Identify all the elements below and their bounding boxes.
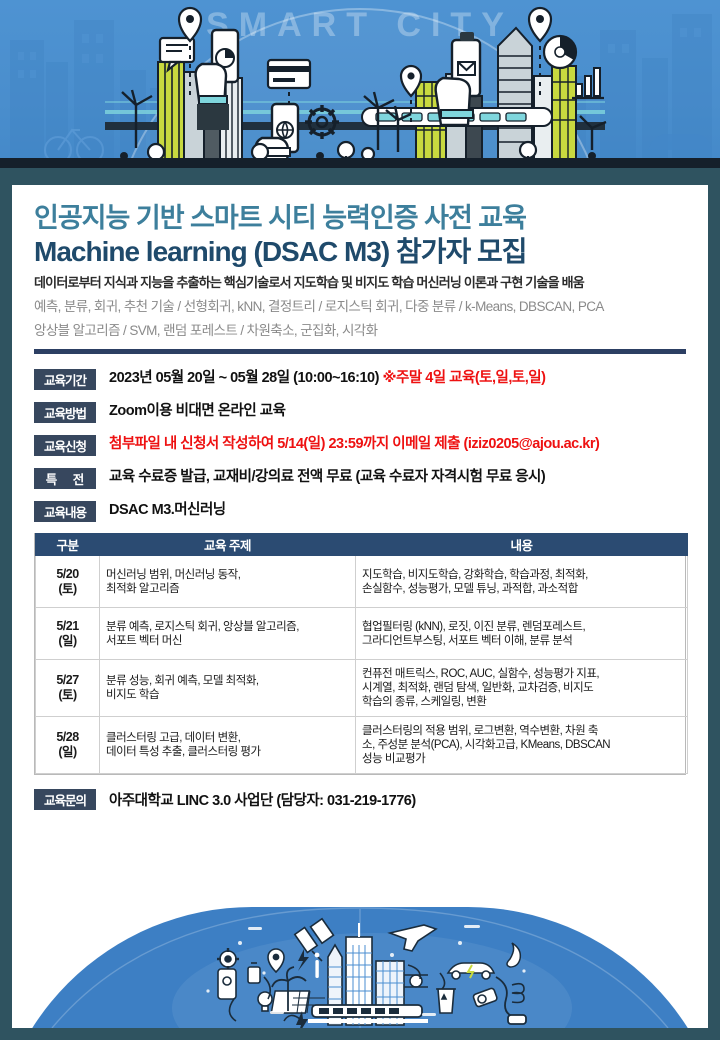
info-row-curriculum: 교육내용 DSAC M3.머신러닝	[34, 500, 686, 522]
cell-content: 컨퓨전 매트릭스, ROC, AUC, 실함수, 성능평가 지표, 시계열, 최…	[356, 660, 688, 717]
info-period-red: ※주말 4일 교육(토,일,토,일)	[382, 370, 545, 386]
page-title-line1: 인공지능 기반 스마트 시티 능력인증 사전 교육	[34, 203, 686, 235]
airplane-icon	[390, 925, 436, 951]
schedule-table: 구분 교육 주제 내용 5/20 (토) 머신러닝 범위, 머신러닝 동작, 최…	[35, 533, 688, 774]
cell-content: 협업필터링 (kNN), 로짓, 이진 분류, 렌덤포레스트, 그라디언트부스팅…	[356, 608, 688, 660]
badge-contact: 교육문의	[34, 789, 96, 810]
cell-date: 5/27 (토)	[36, 660, 100, 717]
schedule-table-wrapper: 구분 교육 주제 내용 5/20 (토) 머신러닝 범위, 머신러닝 동작, 최…	[34, 533, 686, 775]
table-row: 5/20 (토) 머신러닝 범위, 머신러닝 동작, 최적화 알고리즘 지도학습…	[36, 556, 688, 608]
info-icon	[315, 953, 320, 978]
table-header-row: 구분 교육 주제 내용	[36, 534, 688, 556]
subtitle-topics-line2: 앙상블 알고리즘 / SVM, 랜덤 포레스트 / 차원축소, 군집화, 시각화	[34, 319, 686, 339]
lightning-bolt-icon	[296, 949, 309, 1028]
smartphone-icon	[218, 969, 236, 999]
wind-turbine-icon	[580, 116, 606, 150]
smart-city-illustration	[0, 0, 720, 168]
poster-root: SMART CITY	[0, 0, 720, 1040]
info-text-benefits: 교육 수료증 발급, 교재비/강의료 전액 무료 (교육 수료자 자격시험 무료…	[109, 467, 545, 488]
badge-curriculum: 교육내용	[34, 501, 96, 522]
info-text-curriculum: DSAC M3.머신러닝	[109, 500, 226, 521]
cell-content: 클러스터링의 적용 범위, 로그변환, 역수변환, 차원 축 소, 주성분 분석…	[356, 717, 688, 774]
info-text-method: Zoom이용 비대면 온라인 교육	[109, 401, 285, 422]
car-icon	[648, 134, 712, 150]
cell-date: 5/21 (일)	[36, 608, 100, 660]
table-header-content: 내용	[356, 534, 688, 556]
hand-phone-email-icon	[436, 32, 480, 125]
info-row-period: 교육기간 2023년 05월 20일 ~ 05월 28일 (10:00~16:1…	[34, 368, 686, 390]
cell-topic: 클러스터링 고급, 데이터 변환, 데이터 특성 추출, 클러스터링 평가	[100, 717, 356, 774]
info-row-method: 교육방법 Zoom이용 비대면 온라인 교육	[34, 401, 686, 423]
contact-section: 교육문의 아주대학교 LINC 3.0 사업단 (담당자: 031-219-17…	[34, 788, 686, 810]
drone-icon	[404, 975, 428, 987]
camera-icon	[473, 988, 498, 1008]
cell-date: 5/20 (토)	[36, 556, 100, 608]
hero-banner: SMART CITY	[0, 0, 720, 168]
battery-icon	[248, 963, 260, 983]
badge-benefits: 특 전	[34, 468, 96, 489]
badge-method: 교육방법	[34, 402, 96, 423]
table-row: 5/27 (토) 분류 성능, 회귀 예측, 모델 최적화, 비지도 학습 컨퓨…	[36, 660, 688, 717]
info-row-application: 교육신청 첨부파일 내 신청서 작성하여 5/14(일) 23:59까지 이메일…	[34, 434, 686, 456]
satellite-icon	[295, 919, 334, 961]
page-title-line2: Machine learning (DSAC M3) 참가자 모집	[34, 236, 686, 267]
info-text-application[interactable]: 첨부파일 내 신청서 작성하여 5/14(일) 23:59까지 이메일 제출 (…	[109, 434, 599, 455]
table-row: 5/21 (일) 분류 예측, 로지스틱 회귀, 앙상블 알고리즘, 서포트 벡…	[36, 608, 688, 660]
location-pin-icon	[268, 949, 284, 972]
poster-card: 인공지능 기반 스마트 시티 능력인증 사전 교육 Machine learni…	[12, 185, 708, 907]
electric-car-icon	[448, 963, 494, 979]
table-header-date: 구분	[36, 534, 100, 556]
badge-period: 교육기간	[34, 369, 96, 390]
footer-banner	[12, 907, 708, 1028]
info-section: 교육기간 2023년 05월 20일 ~ 05월 28일 (10:00~16:1…	[12, 368, 708, 522]
hero-ground-bar	[0, 158, 720, 168]
fluorescent-bulb-icon	[512, 984, 524, 1003]
subtitle-description: 데이터로부터 지식과 지능을 추출하는 핵심기술로서 지도학습 및 비지도 학습…	[34, 272, 686, 291]
cell-topic: 분류 성능, 회귀 예측, 모델 최적화, 비지도 학습	[100, 660, 356, 717]
title-divider	[34, 349, 686, 354]
badge-application: 교육신청	[34, 435, 96, 456]
info-text-period: 2023년 05월 20일 ~ 05월 28일 (10:00~16:10) ※주…	[109, 368, 545, 389]
train-icon	[308, 1005, 428, 1023]
flame-icon	[507, 943, 520, 967]
recycle-bin-icon	[436, 989, 456, 1013]
info-period-black: 2023년 05월 20일 ~ 05월 28일 (10:00~16:10)	[109, 370, 382, 386]
cell-date: 5/28 (일)	[36, 717, 100, 774]
info-row-benefits: 특 전 교육 수료증 발급, 교재비/강의료 전액 무료 (교육 수료자 자격시…	[34, 467, 686, 489]
subtitle-topics-line1: 예측, 분류, 회귀, 추천 기술 / 선형회귀, kNN, 결정트리 / 로지…	[34, 295, 686, 315]
title-block: 인공지능 기반 스마트 시티 능력인증 사전 교육 Machine learni…	[12, 185, 708, 339]
table-header-topic: 교육 주제	[100, 534, 356, 556]
cell-topic: 머신러닝 범위, 머신러닝 동작, 최적화 알고리즘	[100, 556, 356, 608]
donut-chart-icon	[544, 36, 576, 68]
gear-icon	[217, 948, 239, 970]
smart-city-footer-illustration	[12, 907, 708, 1028]
contact-text: 아주대학교 LINC 3.0 사업단 (담당자: 031-219-1776)	[109, 789, 416, 810]
cell-content: 지도학습, 비지도학습, 강화학습, 학습과정, 최적화, 손실함수, 성능평가…	[356, 556, 688, 608]
cell-topic: 분류 예측, 로지스틱 회귀, 앙상블 알고리즘, 서포트 벡터 머신	[100, 608, 356, 660]
table-row: 5/28 (일) 클러스터링 고급, 데이터 변환, 데이터 특성 추출, 클러…	[36, 717, 688, 774]
